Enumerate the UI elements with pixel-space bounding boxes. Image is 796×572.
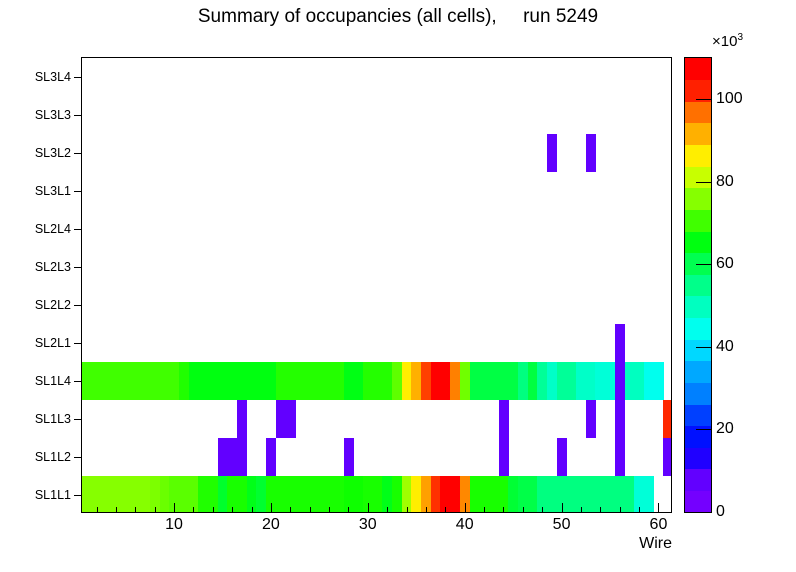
heatmap-cell (411, 362, 421, 400)
root-canvas: Summary of occupancies (all cells), run … (0, 0, 796, 572)
heatmap-cell (315, 362, 325, 400)
x-axis-minor-tick (116, 507, 117, 512)
y-axis-label-sl3l2: SL3L2 (35, 146, 71, 160)
x-axis-minor-tick (252, 507, 253, 512)
heatmap-cell (586, 476, 596, 512)
heatmap-cell (373, 476, 383, 512)
heatmap-cell (344, 362, 354, 400)
heatmap-cell (218, 476, 228, 512)
y-axis-tick (74, 457, 82, 458)
x-axis-tick-label: 10 (165, 516, 183, 534)
heatmap-cell (276, 476, 286, 512)
x-axis-minor-tick (503, 507, 504, 512)
x-axis-minor-tick (232, 507, 233, 512)
y-axis-tick (74, 153, 82, 154)
heatmap-cell (528, 476, 538, 512)
heatmap-cell (547, 476, 557, 512)
y-axis-tick (74, 191, 82, 192)
heatmap-cell (285, 400, 295, 438)
heatmap-cell (256, 362, 266, 400)
x-axis-minor-tick (290, 507, 291, 512)
heatmap-cell (586, 362, 596, 400)
x-axis-minor-tick (581, 507, 582, 512)
x-axis-major-tick (271, 503, 272, 512)
x-axis-minor-tick (523, 507, 524, 512)
heatmap-cell (537, 362, 547, 400)
y-axis-tick (74, 77, 82, 78)
heatmap-cell (595, 362, 605, 400)
heatmap-cell (353, 476, 363, 512)
heatmap-cell (305, 362, 315, 400)
x-axis-minor-tick (155, 507, 156, 512)
x-axis-minor-tick (193, 507, 194, 512)
palette-tick (696, 182, 712, 183)
heatmap-cell (276, 400, 286, 438)
y-axis-tick (74, 267, 82, 268)
palette-tick-label: 80 (716, 173, 734, 191)
x-axis-minor-tick (407, 507, 408, 512)
heatmap-cell (499, 362, 509, 400)
heatmap-cell (121, 476, 131, 512)
heatmap-cell (625, 476, 635, 512)
heatmap-cell (179, 476, 189, 512)
heatmap-cell (605, 362, 615, 400)
heatmap-cell (160, 362, 170, 400)
y-axis-label-sl3l3: SL3L3 (35, 108, 71, 122)
heatmap-cell (101, 476, 111, 512)
x-axis-major-tick (658, 503, 659, 512)
heatmap-cell (198, 476, 208, 512)
heatmap-cell (82, 476, 92, 512)
y-axis-tick (74, 343, 82, 344)
heatmap-cell (266, 438, 276, 476)
heatmap-cells (82, 58, 671, 512)
heatmap-cell (431, 476, 441, 512)
heatmap-cell (101, 362, 111, 400)
heatmap-cell (508, 362, 518, 400)
page-title: Summary of occupancies (all cells), run … (0, 6, 796, 28)
y-axis-tick (74, 115, 82, 116)
heatmap-cell (198, 362, 208, 400)
x-axis-minor-tick (97, 507, 98, 512)
heatmap-cell (160, 476, 170, 512)
heatmap-cell (450, 362, 460, 400)
heatmap-cell (411, 476, 421, 512)
y-axis-label-sl2l1: SL2L1 (35, 336, 71, 350)
heatmap-cell (111, 362, 121, 400)
palette-tick (696, 347, 712, 348)
heatmap-cell (576, 362, 586, 400)
heatmap-cell (373, 362, 383, 400)
heatmap-cell (499, 438, 509, 476)
palette-tick-label: 20 (716, 420, 734, 438)
heatmap-cell (440, 362, 450, 400)
heatmap-cell (605, 476, 615, 512)
heatmap-cell (566, 362, 576, 400)
heatmap-cell (276, 362, 286, 400)
heatmap-cell (586, 400, 596, 438)
heatmap-cell (489, 476, 499, 512)
y-axis-label-sl2l2: SL2L2 (35, 298, 71, 312)
heatmap-cell (421, 362, 431, 400)
palette-tick-label: 100 (716, 90, 743, 108)
y-axis-label-sl2l3: SL2L3 (35, 260, 71, 274)
y-axis-tick (74, 381, 82, 382)
x-axis-minor-tick (348, 507, 349, 512)
heatmap-cell (140, 476, 150, 512)
heatmap-cell (82, 362, 92, 400)
x-axis-minor-tick (310, 507, 311, 512)
x-axis-tick-label: 20 (262, 516, 280, 534)
heatmap-cell (266, 362, 276, 400)
heatmap-cell (353, 362, 363, 400)
palette-tick-label: 0 (716, 503, 725, 521)
x-axis-major-tick (465, 503, 466, 512)
y-axis-label-sl1l2: SL1L2 (35, 450, 71, 464)
heatmap-cell (431, 362, 441, 400)
palette-exponent-label: ×103 (712, 32, 743, 50)
heatmap-cell (586, 134, 596, 172)
x-axis-tick-label: 50 (553, 516, 571, 534)
heatmap-cell (392, 476, 402, 512)
heatmap-cell (566, 476, 576, 512)
y-axis-label-sl2l4: SL2L4 (35, 222, 71, 236)
y-axis-tick (74, 305, 82, 306)
heatmap-cell (189, 362, 199, 400)
heatmap-cell (344, 438, 354, 476)
x-axis-tick-label: 30 (359, 516, 377, 534)
y-axis-label-sl1l3: SL1L3 (35, 412, 71, 426)
palette-tick (696, 99, 712, 100)
heatmap-cell (121, 362, 131, 400)
heatmap-cell (547, 134, 557, 172)
x-axis-major-tick (368, 503, 369, 512)
x-axis-minor-tick (484, 507, 485, 512)
x-axis-minor-tick (329, 507, 330, 512)
heatmap-cell (363, 362, 373, 400)
palette-tick-label: 60 (716, 255, 734, 273)
heatmap-cell (634, 362, 644, 400)
heatmap-cell (615, 438, 625, 476)
heatmap-cell (334, 362, 344, 400)
heatmap-cell (382, 362, 392, 400)
heatmap-cell (218, 362, 228, 400)
x-axis-minor-tick (213, 507, 214, 512)
plot-frame: SL3L4SL3L3SL3L2SL3L1SL2L4SL2L3SL2L2SL2L1… (81, 57, 672, 513)
y-axis-tick (74, 229, 82, 230)
heatmap-cell (470, 362, 480, 400)
heatmap-cell (140, 362, 150, 400)
heatmap-cell (518, 362, 528, 400)
heatmap-cell (237, 362, 247, 400)
x-axis-minor-tick (445, 507, 446, 512)
heatmap-cell (237, 438, 247, 476)
heatmap-cell (256, 476, 266, 512)
heatmap-cell (479, 362, 489, 400)
heatmap-cell (130, 362, 140, 400)
y-axis-label-sl3l4: SL3L4 (35, 70, 71, 84)
x-axis-minor-tick (387, 507, 388, 512)
heatmap-cell (450, 476, 460, 512)
heatmap-cell (644, 362, 654, 400)
heatmap-cell (528, 362, 538, 400)
palette-tick-label: 40 (716, 338, 734, 356)
heatmap-cell (402, 362, 412, 400)
heatmap-cell (285, 362, 295, 400)
heatmap-cell (625, 362, 635, 400)
y-axis-label-sl1l4: SL1L4 (35, 374, 71, 388)
x-axis-minor-tick (639, 507, 640, 512)
palette-tick (696, 512, 712, 513)
x-axis-minor-tick (426, 507, 427, 512)
x-axis-minor-tick (600, 507, 601, 512)
heatmap-cell (237, 400, 247, 438)
heatmap-cell (663, 438, 671, 476)
y-axis-tick (74, 419, 82, 420)
heatmap-cell (237, 476, 247, 512)
x-axis-title: Wire (639, 535, 672, 553)
x-axis-minor-tick (620, 507, 621, 512)
heatmap-cell (547, 362, 557, 400)
palette-exponent-power: 3 (737, 32, 743, 43)
y-axis-label-sl3l1: SL3L1 (35, 184, 71, 198)
heatmap-cell (663, 400, 671, 438)
heatmap-cell (218, 438, 228, 476)
x-axis-tick-label: 40 (456, 516, 474, 534)
x-axis-minor-tick (135, 507, 136, 512)
heatmap-cell (489, 362, 499, 400)
palette-tick (696, 429, 712, 430)
heatmap-cell (460, 362, 470, 400)
heatmap-cell (644, 476, 654, 512)
heatmap-cell (615, 400, 625, 438)
heatmap-cell (247, 362, 257, 400)
x-axis-minor-tick (542, 507, 543, 512)
heatmap-cell (334, 476, 344, 512)
y-axis-label-sl1l1: SL1L1 (35, 488, 71, 502)
palette-tick (696, 264, 712, 265)
heatmap-cell (392, 362, 402, 400)
heatmap-cell (654, 362, 664, 400)
heatmap-cell (315, 476, 325, 512)
heatmap-cell (179, 362, 189, 400)
heatmap-cell (615, 324, 625, 362)
x-axis-tick-label: 60 (650, 516, 668, 534)
heatmap-cell (208, 362, 218, 400)
color-palette-axis: 020406080100 (684, 57, 784, 513)
heatmap-cell (499, 400, 509, 438)
heatmap-cell (470, 476, 480, 512)
x-axis-major-tick (562, 503, 563, 512)
x-axis-major-tick (174, 503, 175, 512)
heatmap-cell (295, 362, 305, 400)
heatmap-cell (295, 476, 305, 512)
heatmap-cell (615, 362, 625, 400)
heatmap-cell (557, 438, 567, 476)
y-axis-tick (74, 495, 82, 496)
heatmap-cell (508, 476, 518, 512)
heatmap-cell (92, 362, 102, 400)
heatmap-cell (150, 362, 160, 400)
heatmap-cell (557, 362, 567, 400)
heatmap-cell (227, 362, 237, 400)
heatmap-cell (324, 362, 334, 400)
heatmap-cell (169, 362, 179, 400)
heatmap-cell (227, 438, 237, 476)
